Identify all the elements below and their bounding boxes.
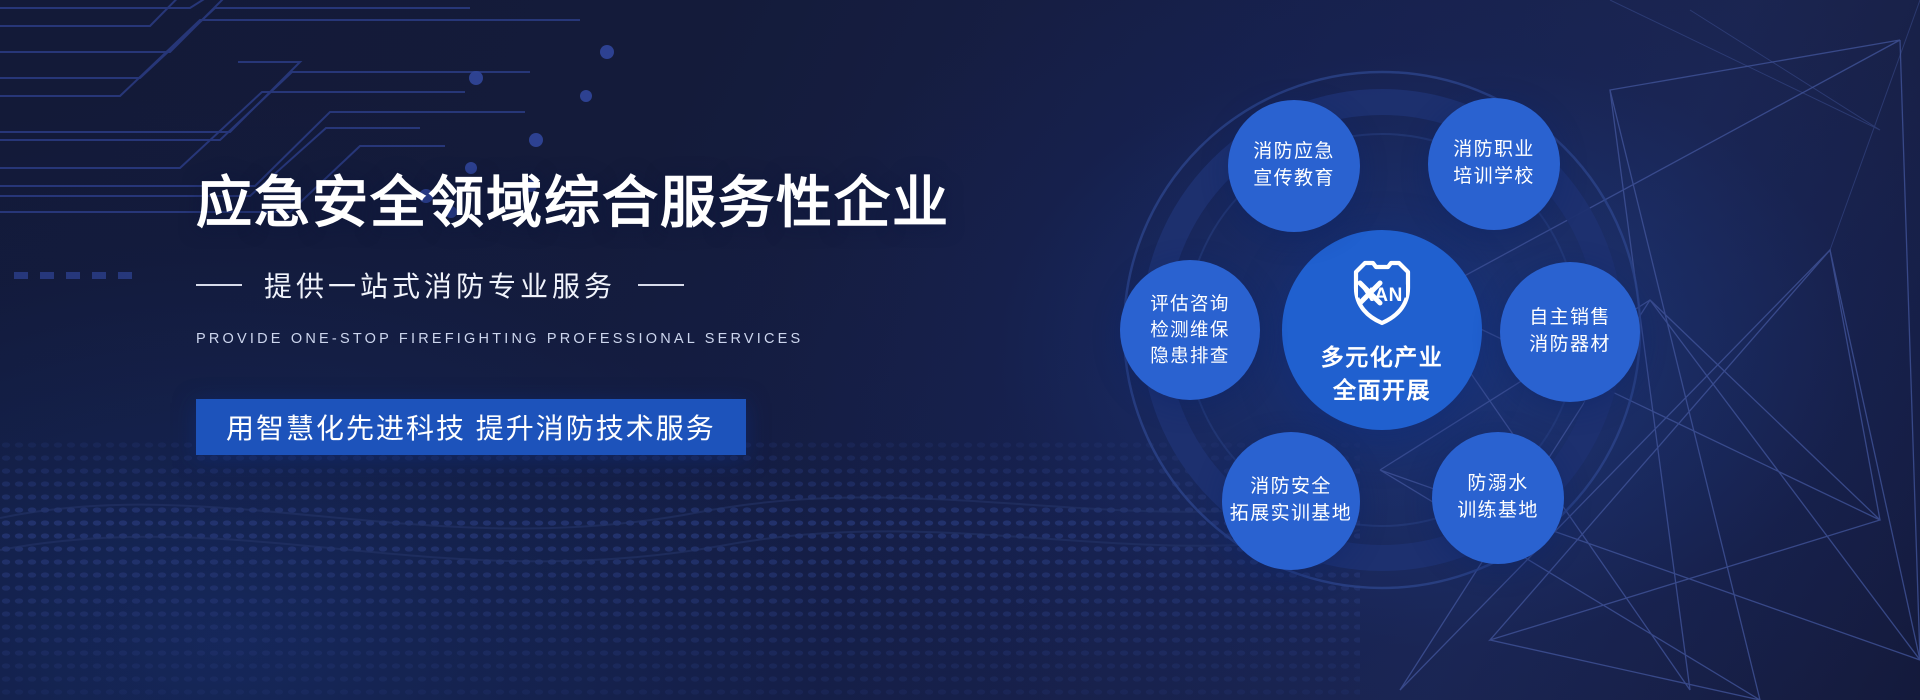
cta-button[interactable]: 用智慧化先进科技 提升消防技术服务 — [196, 399, 746, 455]
node-line-1: 消防应急 — [1253, 139, 1335, 166]
node-line-3: 隐患排查 — [1150, 343, 1230, 369]
dash-left-decoration — [196, 284, 242, 286]
hero-copy: 应急安全领域综合服务性企业 提供一站式消防专业服务 PROVIDE ONE-ST… — [196, 172, 956, 455]
english-tagline: PROVIDE ONE-STOP FIREFIGHTING PROFESSION… — [196, 331, 956, 347]
diagram-node-assessment-inspection[interactable]: 评估咨询 检测维保 隐患排查 — [1120, 260, 1260, 400]
node-line-2: 消防器材 — [1529, 332, 1611, 359]
node-line-1: 防溺水 — [1467, 471, 1528, 498]
subtitle-row: 提供一站式消防专业服务 — [196, 265, 956, 305]
node-line-2: 宣传教育 — [1253, 166, 1335, 193]
diagram-node-vocational-training-school[interactable]: 消防职业 培训学校 — [1428, 98, 1560, 230]
diagram-node-anti-drowning-training-base[interactable]: 防溺水 训练基地 — [1432, 432, 1564, 564]
diagram-node-fire-emergency-publicity[interactable]: 消防应急 宣传教育 — [1228, 100, 1360, 232]
diagram-node-equipment-sales[interactable]: 自主销售 消防器材 — [1500, 262, 1640, 402]
subtitle: 提供一站式消防专业服务 — [264, 265, 616, 305]
center-line-1: 多元化产业 — [1321, 342, 1444, 373]
diagram-center-node[interactable]: XAN 多元化产业 全面开展 — [1282, 230, 1482, 430]
services-diagram: XAN 多元化产业 全面开展 消防应急 宣传教育 消防职业 培训学校 自主销售 … — [1060, 40, 1820, 660]
node-line-2: 拓展实训基地 — [1230, 501, 1352, 528]
xan-shield-logo-icon: XAN — [1346, 255, 1418, 334]
node-line-1: 评估咨询 — [1150, 291, 1230, 317]
page-title: 应急安全领域综合服务性企业 — [196, 172, 956, 235]
node-line-2: 培训学校 — [1453, 164, 1535, 191]
diagram-node-safety-training-base[interactable]: 消防安全 拓展实训基地 — [1222, 432, 1360, 570]
node-line-1: 消防安全 — [1250, 474, 1332, 501]
node-line-1: 消防职业 — [1453, 137, 1535, 164]
hero-banner: 应急安全领域综合服务性企业 提供一站式消防专业服务 PROVIDE ONE-ST… — [0, 0, 1920, 700]
node-line-1: 自主销售 — [1529, 305, 1611, 332]
node-line-2: 检测维保 — [1150, 317, 1230, 343]
dash-right-decoration — [638, 284, 684, 286]
node-line-2: 训练基地 — [1457, 498, 1539, 525]
center-line-2: 全面开展 — [1333, 375, 1431, 406]
